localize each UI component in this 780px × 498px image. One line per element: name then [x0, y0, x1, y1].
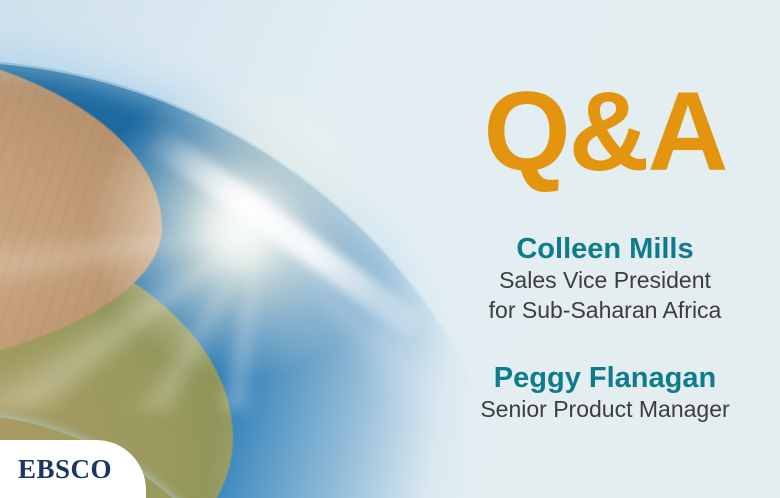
speaker-title-line: Senior Product Manager	[430, 395, 780, 424]
speaker-name: Colleen Mills	[430, 232, 780, 266]
earth-globe-icon	[0, 0, 470, 498]
webinar-title-slide: Q&A Colleen Mills Sales Vice President f…	[0, 0, 780, 498]
speaker-card-1: Colleen Mills Sales Vice President for S…	[430, 232, 780, 325]
page-title: Q&A	[484, 0, 727, 188]
speaker-name: Peggy Flanagan	[430, 361, 780, 395]
artwork-fade-overlay	[0, 0, 470, 498]
brand-logo-badge: EBSCO	[0, 440, 146, 498]
speaker-card-2: Peggy Flanagan Senior Product Manager	[430, 361, 780, 425]
ebsco-wordmark: EBSCO	[0, 454, 112, 485]
content-panel: Q&A Colleen Mills Sales Vice President f…	[430, 0, 780, 498]
speaker-title-line: for Sub-Saharan Africa	[430, 296, 780, 325]
speaker-title-line: Sales Vice President	[430, 266, 780, 295]
